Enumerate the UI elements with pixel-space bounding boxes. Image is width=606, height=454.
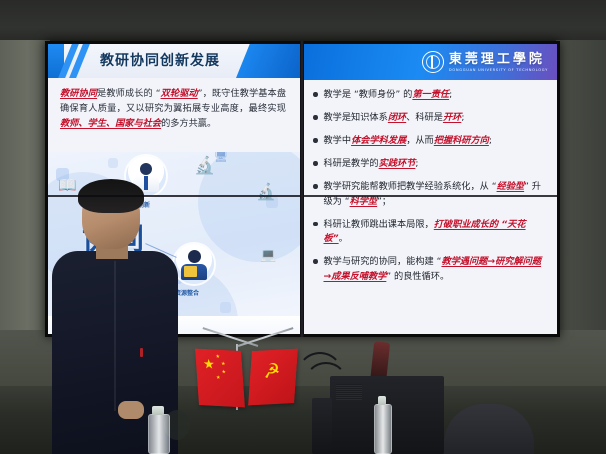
university-logo-icon — [422, 51, 444, 73]
decor-square-2 — [108, 158, 118, 168]
paragraph-emphasis-3: 教师、学生、国家与社会 — [60, 118, 161, 129]
student-avatar — [174, 244, 214, 284]
flag-small-star-2: ★ — [221, 362, 226, 367]
decor-square-4 — [220, 302, 231, 313]
bullet-emphasis: 经验型 — [497, 181, 525, 192]
paragraph-emphasis-1: 教研协同 — [60, 88, 97, 99]
bullet-tail: ; — [415, 158, 418, 169]
bullet-text: 科研是教学的 — [324, 158, 379, 169]
bullet-list: 教学是 “教师身份” 的第一责任; 教学是知识体系闭环、科研是开环; 教学中体会… — [313, 88, 548, 293]
university-name-en: DONGGUAN UNIVERSITY OF TECHNOLOGY — [449, 68, 548, 72]
bottle-body — [148, 414, 170, 454]
bullet-text: 科研让教师跳出课本局限， — [324, 219, 434, 230]
flag-small-star-4: ★ — [216, 376, 221, 381]
bullet-text: 教学是 “教师身份” 的 — [324, 89, 413, 100]
laptop-icon-2: 🖥 — [214, 152, 228, 163]
cpc-party-flag: ☭ — [248, 349, 298, 406]
presenter-zipper — [114, 261, 116, 411]
infographic-label-bottom: 资源整合 — [175, 288, 199, 297]
bullet-mid: ，从而 — [406, 135, 434, 146]
bullet-dot-icon — [313, 161, 318, 166]
bullet-emphasis: 第一责任 — [412, 89, 449, 100]
bullet-text: 教学是知识体系 — [324, 112, 388, 123]
bullet-emphasis-2: 把握科研方向 — [434, 135, 489, 146]
slide-left-header: 教研协同创新发展 — [48, 44, 300, 78]
header-right-block — [236, 44, 300, 78]
list-item: 科研让教师跳出课本局限，打破职业成长的 “天花板”。 — [313, 218, 548, 247]
slide-left-title: 教研协同创新发展 — [100, 50, 220, 70]
flag-small-star-3: ★ — [221, 370, 226, 375]
student-folder — [184, 266, 197, 277]
paragraph-text-2: 是教师成长的 “ — [97, 88, 160, 99]
bullet-text: 教学中 — [324, 135, 352, 146]
laptop-icon: 💻 — [260, 248, 276, 263]
bullet-emphasis: 闭环 — [388, 112, 406, 123]
bullet-tail: 。 — [339, 233, 348, 244]
paragraph-text-4: 的多方共赢。 — [161, 118, 216, 129]
flag-small-star-1: ★ — [215, 355, 220, 360]
list-item: 教学是 “教师身份” 的第一责任; — [313, 88, 548, 103]
paragraph-emphasis-2: 双轮驱动 — [161, 88, 198, 99]
slide-right-header: 東莞理工學院 DONGGUAN UNIVERSITY OF TECHNOLOGY — [304, 44, 557, 80]
presenter-jacket-tag — [140, 348, 143, 357]
bullet-tail: ; — [489, 135, 492, 146]
bullet-tail: ; — [449, 89, 452, 100]
bottle-body — [374, 404, 392, 454]
bullet-emphasis-2: 科学型 — [350, 196, 378, 207]
student-head — [188, 250, 201, 263]
bullet-dot-icon — [313, 115, 318, 120]
university-name-cn: 東莞理工學院 — [449, 53, 548, 66]
flag-big-star: ★ — [203, 358, 216, 372]
researcher-head — [140, 163, 152, 175]
bullet-mid: 、科研是 — [406, 112, 443, 123]
presenter-hand — [118, 401, 144, 419]
bullet-tail: ”； — [377, 196, 391, 207]
water-bottle-front — [148, 406, 168, 454]
bottle-cap — [378, 396, 387, 405]
list-item: 教学与研究的协同，能构建 “教学遇问题→研究解问题→成果反哺教学” 的良性循环。 — [313, 255, 548, 284]
microscope-icon: 🔬 — [194, 156, 215, 176]
ceiling-wall — [0, 0, 606, 46]
water-bottle-right — [374, 396, 390, 454]
bullet-emphasis: 实践环节 — [379, 158, 416, 169]
bullet-text: 教学与研究的协同，能构建 “ — [324, 256, 442, 267]
slide-panel-right: 東莞理工學院 DONGGUAN UNIVERSITY OF TECHNOLOGY… — [304, 44, 557, 334]
monitor-speaker-grill — [336, 384, 362, 400]
panel-bezel-divider — [300, 41, 304, 337]
bullet-tail: ” 的良性循环。 — [386, 271, 449, 282]
bullet-emphasis: 体会学科发展 — [351, 135, 406, 146]
bullet-dot-icon — [313, 92, 318, 97]
lecture-room-photo: 教研协同创新发展 教研协同是教师成长的 “双轮驱动”，既守住教学基本盘确保育人质… — [0, 0, 606, 454]
microscope-icon-2: 🔬 — [256, 182, 276, 201]
right-wall — [556, 40, 606, 340]
china-national-flag: ★ ★ ★ ★ ★ — [195, 349, 245, 408]
bullet-dot-icon — [313, 184, 318, 189]
bullet-text: 教学研究能帮教师把教学经验系统化，从 “ — [324, 181, 497, 192]
bottle-cap — [152, 406, 163, 415]
list-item: 教学是知识体系闭环、科研是开环; — [313, 111, 548, 126]
bullet-emphasis-2: 开环 — [443, 112, 461, 123]
hammer-sickle-icon: ☭ — [263, 361, 281, 383]
bullet-dot-icon — [313, 138, 318, 143]
list-item: 教学中体会学科发展，从而把握科研方向; — [313, 134, 548, 149]
list-item: 科研是教学的实践环节; — [313, 157, 548, 172]
bullet-dot-icon — [313, 259, 318, 264]
slide-left-paragraph: 教研协同是教师成长的 “双轮驱动”，既守住教学基本盘确保育人质量，又以研究为翼拓… — [60, 86, 286, 131]
left-wall — [0, 40, 50, 340]
bullet-dot-icon — [313, 222, 318, 227]
bullet-tail: ; — [461, 112, 464, 123]
desk-monitor-secondary — [312, 398, 332, 454]
